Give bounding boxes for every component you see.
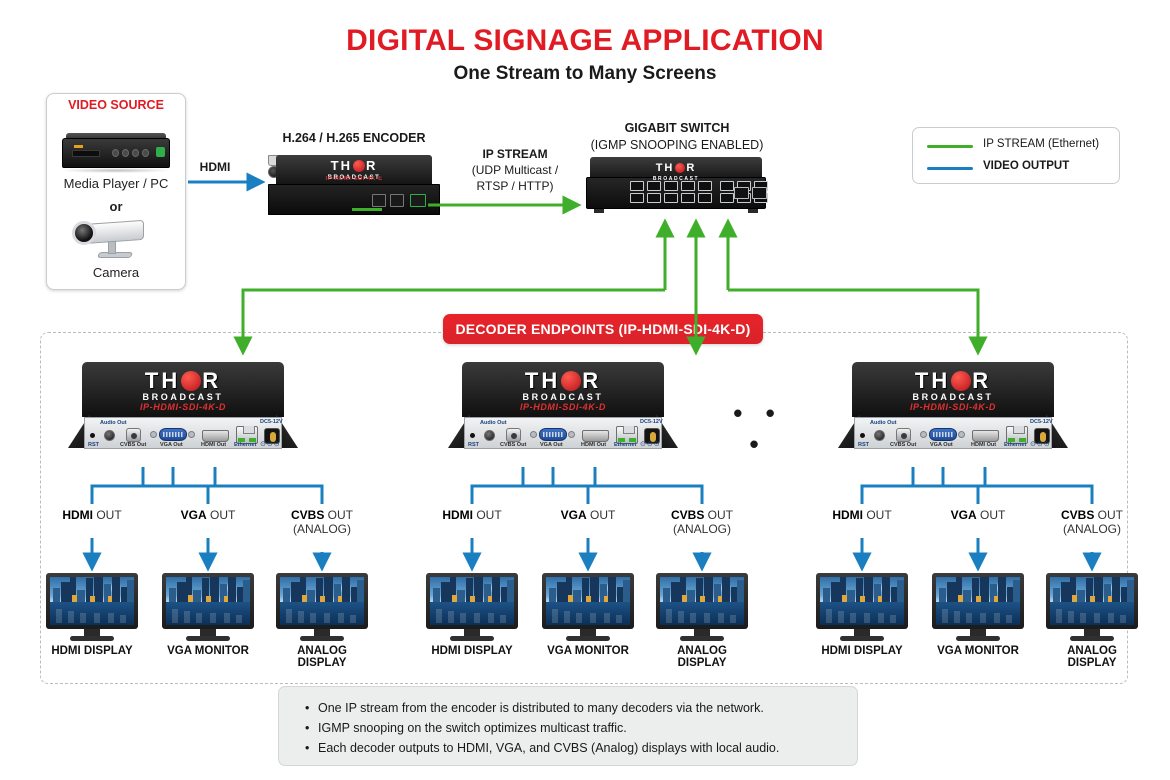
display-screen (660, 577, 744, 625)
decoder-vga-out-label: VGA Out (540, 442, 563, 448)
output-label-vga-1: VGA OUT (148, 508, 268, 522)
display-vga-2: VGA MONITOR (542, 573, 634, 643)
decoder-device-1: THR BROADCAST IP-HDMI-SDI-4K-D Audio Out… (68, 362, 298, 467)
display-caption: HDMI DISPLAY (816, 645, 908, 657)
camera-lens-icon (72, 221, 96, 245)
output-label-cvbs-2: CVBS OUT(ANALOG) (642, 508, 762, 536)
switch-rj45-port (698, 181, 712, 191)
notes-box: One IP stream from the encoder is distri… (278, 686, 858, 766)
output-label-hdmi-3: HDMI OUT (802, 508, 922, 522)
decoder-audio-out-port (874, 430, 885, 441)
decoder-cvbs-out-port (506, 428, 521, 442)
switch-rj45-port (664, 181, 678, 191)
decoder-hdmi-out-label: HDMI Out (971, 442, 996, 448)
video-source-title: VIDEO SOURCE (46, 98, 186, 112)
decoder-model-label: IP-HDMI-SDI-4K-D (462, 402, 664, 412)
page-subtitle: One Stream to Many Screens (0, 63, 1170, 85)
decoder-reset-button[interactable] (860, 433, 865, 438)
decoder-hdmi-out-label: HDMI Out (581, 442, 606, 448)
legend-swatch-video-output (927, 167, 973, 170)
decoder-cvbs-out-label: CVBS Out (500, 442, 526, 448)
display-vga-1: VGA MONITOR (162, 573, 254, 643)
display-analog-3: ANALOG DISPLAY (1046, 573, 1138, 643)
display-analog-1: ANALOG DISPLAY (276, 573, 368, 643)
media-player-slot-icon (72, 150, 100, 157)
decoder-reset-button[interactable] (90, 433, 95, 438)
switch-sfp-port-2 (752, 187, 767, 199)
output-label-cvbs-3: CVBS OUT(ANALOG) (1032, 508, 1152, 536)
switch-rj45-port (647, 193, 661, 203)
decoder-brand-logo: THR BROADCAST (82, 368, 284, 402)
display-caption: HDMI DISPLAY (426, 645, 518, 657)
switch-rj45-port (698, 193, 712, 203)
media-player-shadow (60, 168, 172, 173)
video-source-card (46, 93, 186, 290)
decoder-hdmi-out-label: HDMI Out (201, 442, 226, 448)
output-label-vga-2: VGA OUT (528, 508, 648, 522)
output-label-hdmi-1: HDMI OUT (32, 508, 152, 522)
decoder-audio-out-port (484, 430, 495, 441)
decoder-model-label: IP-HDMI-SDI-4K-D (852, 402, 1054, 412)
display-analog-2: ANALOG DISPLAY (656, 573, 748, 643)
gigabit-switch-device: THR BROADCAST (586, 157, 766, 213)
decoder-reset-button[interactable] (470, 433, 475, 438)
switch-rj45-port (664, 193, 678, 203)
decoder-audio-out-label: Audio Out (870, 420, 897, 426)
display-screen (546, 577, 630, 625)
decoder-vga-out-label: VGA Out (930, 442, 953, 448)
decoder-power-dots-icon: ⊙⊙⊙ (1030, 440, 1051, 448)
decoder-cvbs-out-port (126, 428, 141, 442)
decoder-device-2: THR BROADCAST IP-HDMI-SDI-4K-D Audio Out… (448, 362, 678, 467)
switch-rj45-port-group-a (630, 181, 716, 205)
display-hdmi-1: HDMI DISPLAY (46, 573, 138, 643)
decoder-cvbs-out-label: CVBS Out (120, 442, 146, 448)
display-screen (166, 577, 250, 625)
decoder-rst-label: RST (468, 442, 479, 448)
media-player-led-icon (74, 145, 83, 148)
switch-brand-logo: THR BROADCAST (586, 158, 766, 182)
decoder-hdmi-out-port (202, 430, 229, 442)
decoder-brand-logo: THR BROADCAST (852, 368, 1054, 402)
decoder-ethernet-label: Ethernet (234, 442, 256, 448)
legend-swatch-ip-stream (927, 145, 973, 148)
switch-rj45-port (681, 181, 695, 191)
decoder-audio-out-label: Audio Out (100, 420, 127, 426)
decoder-audio-out-port (104, 430, 115, 441)
display-screen (430, 577, 514, 625)
switch-rj45-port (720, 181, 734, 191)
display-screen (820, 577, 904, 625)
decoder-model-label: IP-HDMI-SDI-4K-D (82, 402, 284, 412)
switch-rj45-port (630, 181, 644, 191)
display-hdmi-2: HDMI DISPLAY (426, 573, 518, 643)
display-caption: ANALOG DISPLAY (1046, 645, 1138, 669)
display-caption: HDMI DISPLAY (46, 645, 138, 657)
decoder-rst-label: RST (858, 442, 869, 448)
decoder-power-label: DC5-12V (1030, 419, 1053, 425)
legend-box: IP STREAM (Ethernet) VIDEO OUTPUT (912, 127, 1120, 184)
display-vga-3: VGA MONITOR (932, 573, 1024, 643)
output-label-cvbs-1: CVBS OUT(ANALOG) (262, 508, 382, 536)
display-caption: VGA MONITOR (932, 645, 1024, 657)
switch-rj45-port (630, 193, 644, 203)
decoder-vga-out-port (159, 428, 187, 441)
media-player-power-icon (156, 147, 165, 157)
switch-rj45-port (647, 181, 661, 191)
display-caption: VGA MONITOR (542, 645, 634, 657)
display-screen (936, 577, 1020, 625)
decoder-rst-label: RST (88, 442, 99, 448)
output-label-vga-3: VGA OUT (918, 508, 1038, 522)
decoder-brand-logo: THR BROADCAST (462, 368, 664, 402)
display-caption: VGA MONITOR (162, 645, 254, 657)
decoder-audio-out-label: Audio Out (480, 420, 507, 426)
media-player-knobs-icon (112, 148, 152, 158)
decoder-cvbs-out-port (896, 428, 911, 442)
video-source-or-label: or (46, 199, 186, 214)
decoder-power-label: DC5-12V (260, 419, 283, 425)
decoder-ellipsis: • • • (728, 398, 788, 460)
page-title: DIGITAL SIGNAGE APPLICATION (0, 24, 1170, 58)
decoder-cvbs-out-label: CVBS Out (890, 442, 916, 448)
ip-stream-label-line3: RTSP / HTTP) (455, 179, 575, 193)
decoder-vga-out-port (539, 428, 567, 441)
decoder-ethernet-label: Ethernet (614, 442, 636, 448)
note-item-1: One IP stream from the encoder is distri… (305, 698, 857, 718)
switch-label: GIGABIT SWITCH (584, 121, 770, 135)
ip-stream-label-line1: IP STREAM (455, 147, 575, 161)
switch-sublabel: (IGMP SNOOPING ENABLED) (560, 138, 794, 152)
display-screen (50, 577, 134, 625)
switch-rj45-port (720, 193, 734, 203)
hdmi-connection-label: HDMI (180, 160, 250, 174)
decoder-device-3: THR BROADCAST IP-HDMI-SDI-4K-D Audio Out… (838, 362, 1068, 467)
decoder-power-label: DC5-12V (640, 419, 663, 425)
decoder-vga-out-port (929, 428, 957, 441)
ip-stream-label-line2: (UDP Multicast / (455, 163, 575, 177)
switch-rj45-port (681, 193, 695, 203)
note-item-2: IGMP snooping on the switch optimizes mu… (305, 718, 857, 738)
decoder-ethernet-label: Ethernet (1004, 442, 1026, 448)
switch-sfp-port-1 (734, 187, 749, 199)
decoder-endpoints-badge-label: DECODER ENDPOINTS (IP-HDMI-SDI-4K-D) (443, 314, 763, 344)
decoder-power-dots-icon: ⊙⊙⊙ (640, 440, 661, 448)
encoder-model-label: IP-HDMI-SDI-4K-E (268, 176, 440, 182)
note-item-3: Each decoder outputs to HDMI, VGA, and C… (305, 738, 857, 758)
legend-label-video-output: VIDEO OUTPUT (983, 160, 1069, 172)
display-caption: ANALOG DISPLAY (656, 645, 748, 669)
legend-label-ip-stream: IP STREAM (Ethernet) (983, 138, 1099, 150)
encoder-device: THR BROADCAST IP-HDMI-SDI-4K-E (268, 155, 440, 217)
video-source-device2-label: Camera (46, 265, 186, 280)
decoder-hdmi-out-port (972, 430, 999, 442)
decoder-power-dots-icon: ⊙⊙⊙ (260, 440, 281, 448)
display-screen (280, 577, 364, 625)
encoder-label: H.264 / H.265 ENCODER (264, 131, 444, 145)
decoder-hdmi-out-port (582, 430, 609, 442)
display-caption: ANALOG DISPLAY (276, 645, 368, 669)
display-hdmi-3: HDMI DISPLAY (816, 573, 908, 643)
output-label-hdmi-2: HDMI OUT (412, 508, 532, 522)
display-screen (1050, 577, 1134, 625)
decoder-vga-out-label: VGA Out (160, 442, 183, 448)
video-source-device1-label: Media Player / PC (46, 176, 186, 191)
